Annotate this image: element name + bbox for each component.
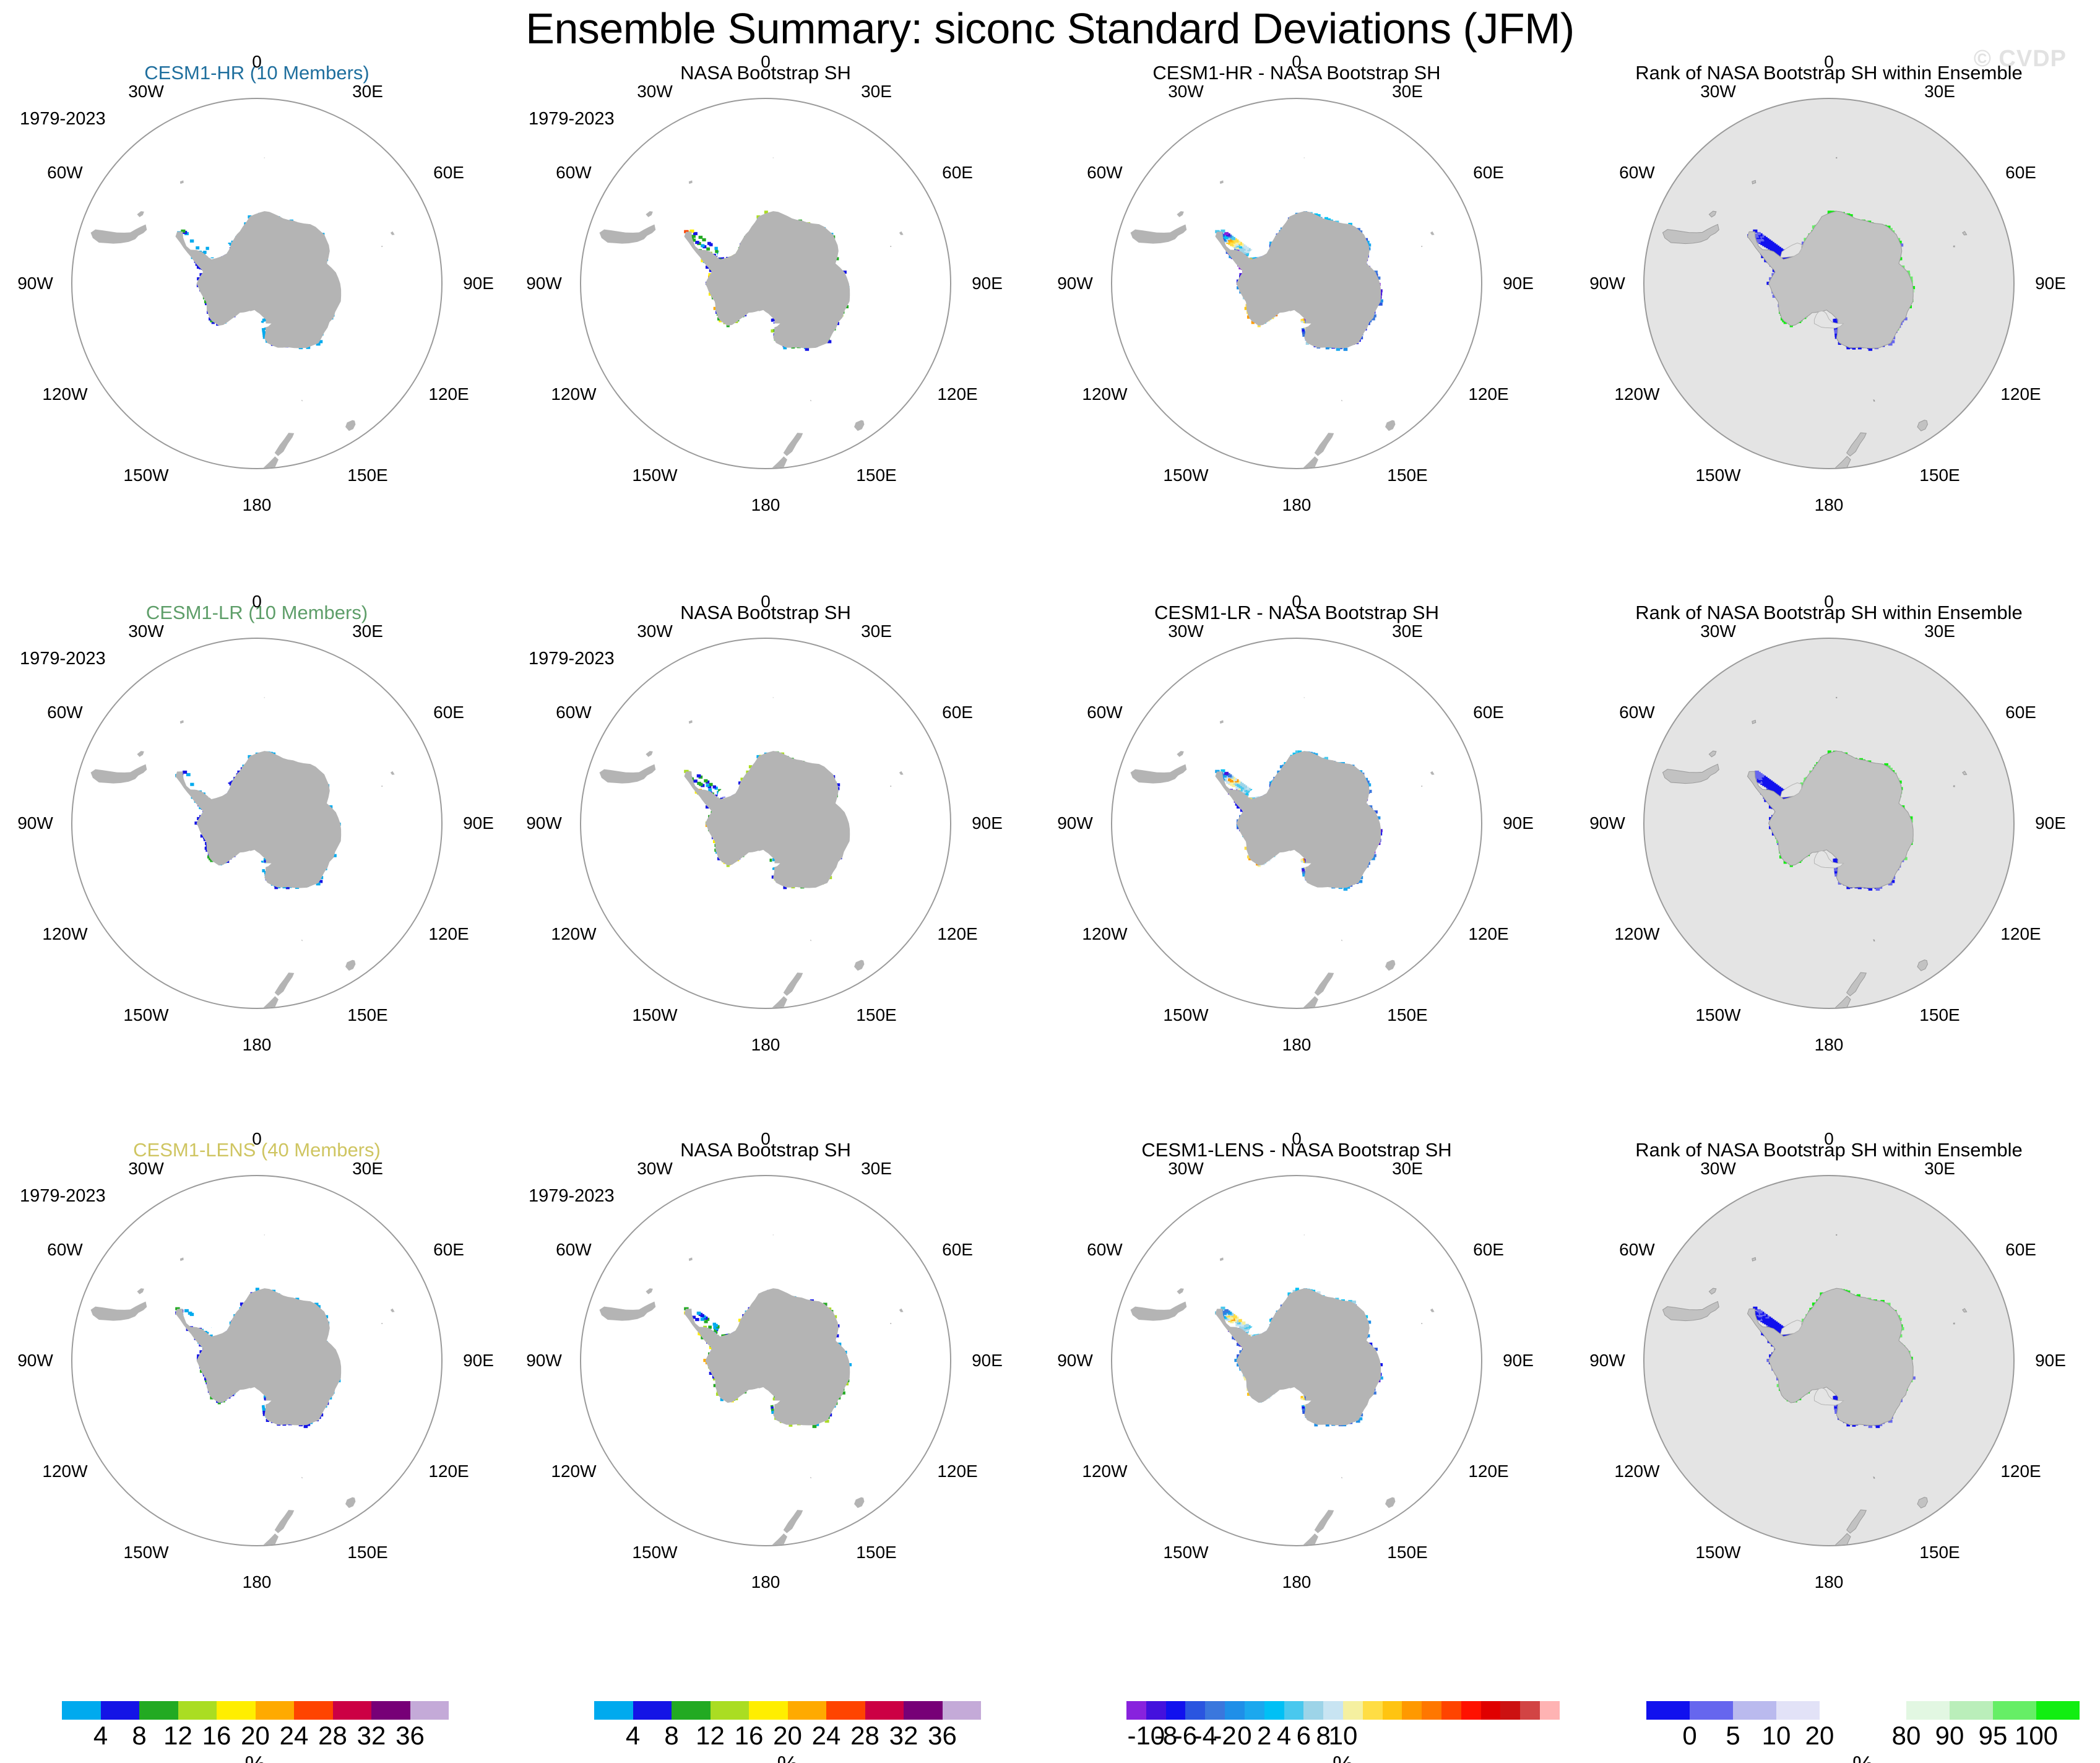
lon-label-150W: 150W: [123, 1543, 168, 1562]
panel-hr-model: CESM1-HR (10 Members)1979-2023030E60E90E…: [0, 62, 514, 600]
lon-label-150E: 150E: [1387, 466, 1427, 485]
land-heard: [381, 246, 382, 247]
map-lens-rank: 030E60E90E120E150E180150W120W90W60W30W: [1612, 1169, 2046, 1602]
map-lr-diff: 030E60E90E120E150E180150W120W90W60W30W: [1080, 631, 1513, 1065]
map-graphics: [1112, 639, 1481, 1008]
colorbar-tick-label: 5: [1726, 1721, 1740, 1751]
lon-label-30E: 30E: [1924, 622, 1955, 641]
colorbar-swatch: [1993, 1701, 2036, 1720]
land-heard: [381, 1323, 382, 1324]
colorbar-tick-label: 100: [2015, 1721, 2058, 1751]
lon-label-120W: 120W: [1614, 924, 1659, 944]
lon-label-30E: 30E: [1924, 82, 1955, 102]
land-tasmania: [854, 1497, 864, 1508]
lon-label-180: 180: [1282, 1035, 1311, 1055]
land-tasmania: [1385, 960, 1395, 971]
land-bouvet: [264, 1234, 265, 1235]
lon-label-60E: 60E: [2005, 703, 2036, 722]
colorbar-swatch: [711, 1701, 750, 1720]
land-kerguelen: [1963, 232, 1967, 235]
land-south-georgia: [689, 180, 693, 184]
colorbar-tick-label: 10: [1329, 1721, 1358, 1751]
land-south-america: [600, 224, 656, 243]
map-hr-rank: 030E60E90E120E150E180150W120W90W60W30W: [1612, 92, 2046, 525]
colorbar-tick-label: 0: [1237, 1721, 1251, 1751]
map-graphics: [1644, 1176, 2013, 1545]
land-tasmania: [1917, 420, 1927, 431]
map-disc: [1111, 1175, 1482, 1546]
land-heard: [1421, 1323, 1422, 1324]
lon-label-120W: 120W: [551, 924, 596, 944]
colorbar-tick-label: 80: [1892, 1721, 1921, 1751]
land-heard: [1953, 1323, 1955, 1324]
lon-label-90W: 90W: [526, 813, 562, 833]
colorbar-swatch: [1402, 1701, 1422, 1720]
land-south-america: [1663, 1301, 1719, 1320]
colorbar-swatch: [1733, 1701, 1776, 1720]
lon-label-90E: 90E: [1503, 274, 1534, 293]
lon-label-30W: 30W: [637, 1159, 673, 1179]
lon-label-120E: 120E: [937, 1462, 977, 1481]
lon-label-90W: 90W: [1589, 1351, 1625, 1371]
colorbar-tick-label: 8: [664, 1721, 678, 1751]
lon-label-150E: 150E: [347, 466, 387, 485]
lon-label-90E: 90E: [972, 274, 1003, 293]
land-south-america: [91, 764, 147, 783]
colorbar-swatch: [333, 1701, 372, 1720]
lon-label-30W: 30W: [128, 622, 164, 641]
colorbar-ticks: -10-8-6-4-20246810: [1126, 1721, 1560, 1749]
land-tasmania: [854, 960, 864, 971]
land-bouvet: [1304, 157, 1305, 158]
land-new-zealand-south: [1315, 433, 1334, 456]
land-heard: [381, 786, 382, 787]
colorbar-swatch: [1225, 1701, 1245, 1720]
colorbar-swatch: [1126, 1701, 1146, 1720]
land-new-zealand-south: [784, 1510, 803, 1533]
land-tasmania: [345, 420, 355, 431]
map-disc: [71, 1175, 443, 1546]
land-new-zealand-south: [784, 433, 803, 456]
lon-label-0: 0: [761, 1129, 771, 1149]
lon-label-60E: 60E: [942, 703, 973, 722]
lon-label-60E: 60E: [1473, 1240, 1504, 1260]
panel-lens-model: CESM1-LENS (40 Members)1979-2023030E60E9…: [0, 1139, 514, 1678]
colorbar-swatch: [1323, 1701, 1343, 1720]
land-kerguelen: [1430, 232, 1435, 235]
land-new-zealand-north: [1303, 1533, 1318, 1545]
map-disc: [1643, 638, 2015, 1009]
lon-label-150W: 150W: [632, 466, 677, 485]
lon-label-60E: 60E: [1473, 163, 1504, 183]
colorbar-cbar-diff: -10-8-6-4-20246810%: [1126, 1701, 1560, 1763]
colorbar-swatch: [1383, 1701, 1402, 1720]
land-macquarie: [1873, 400, 1875, 401]
lon-label-150W: 150W: [1695, 1005, 1740, 1025]
map-graphics: [581, 99, 950, 468]
colorbar-swatch: [1166, 1701, 1186, 1720]
land-tasmania: [1385, 420, 1395, 431]
figure-root: Ensemble Summary: siconc Standard Deviat…: [0, 0, 2100, 1763]
map-disc: [1643, 1175, 2015, 1546]
map-lens-model: 030E60E90E120E150E180150W120W90W60W30W: [40, 1169, 473, 1602]
panel-hr-rank: Rank of NASA Bootstrap SH within Ensembl…: [1572, 62, 2086, 600]
lon-label-60W: 60W: [1619, 163, 1655, 183]
colorbar-ticks: 051020809095100: [1646, 1721, 2080, 1749]
lon-label-30E: 30E: [352, 622, 383, 641]
lon-label-120E: 120E: [1468, 1462, 1508, 1481]
lon-label-30W: 30W: [1700, 1159, 1736, 1179]
lon-label-90E: 90E: [463, 1351, 494, 1371]
map-disc: [1111, 638, 1482, 1009]
land-bouvet: [1836, 157, 1837, 158]
colorbar-swatch: [62, 1701, 101, 1720]
colorbar-tick-label: 24: [812, 1721, 841, 1751]
land-south-georgia: [1220, 180, 1224, 184]
land-kerguelen: [899, 232, 904, 235]
lon-label-150E: 150E: [347, 1005, 387, 1025]
lon-label-0: 0: [1824, 52, 1834, 72]
colorbar-tick-label: 32: [889, 1721, 918, 1751]
land-new-zealand-north: [1303, 996, 1318, 1008]
colorbar-tick-label: 36: [928, 1721, 957, 1751]
map-hr-model: 030E60E90E120E150E180150W120W90W60W30W: [40, 92, 473, 525]
colorbar-strip: [594, 1701, 981, 1720]
map-hr-diff: 030E60E90E120E150E180150W120W90W60W30W: [1080, 92, 1513, 525]
land-new-zealand-north: [772, 996, 787, 1008]
lon-label-90E: 90E: [2035, 274, 2066, 293]
lon-label-180: 180: [243, 1572, 272, 1592]
land-new-zealand-north: [1835, 456, 1851, 468]
lon-label-60W: 60W: [47, 163, 83, 183]
lon-label-60W: 60W: [556, 1240, 592, 1260]
map-lens-obs: 030E60E90E120E150E180150W120W90W60W30W: [549, 1169, 982, 1602]
colorbar-unit-label: %: [594, 1752, 981, 1763]
map-graphics: [72, 639, 441, 1008]
lon-label-120E: 120E: [937, 924, 977, 944]
panel-lr-diff: CESM1-LR - NASA Bootstrap SH030E60E90E12…: [1040, 602, 1553, 1140]
lon-label-30W: 30W: [128, 1159, 164, 1179]
map-graphics: [1112, 1176, 1481, 1545]
map-graphics: [1112, 99, 1481, 468]
colorbar-swatch: [1146, 1701, 1166, 1720]
lon-label-150W: 150W: [1695, 1543, 1740, 1562]
lon-label-0: 0: [252, 52, 262, 72]
lon-label-90W: 90W: [17, 274, 53, 293]
lon-label-150W: 150W: [1163, 1005, 1208, 1025]
land-south-georgia: [689, 720, 693, 724]
land-bouvet: [773, 697, 774, 698]
colorbar-swatch: [371, 1701, 410, 1720]
land-macquarie: [1873, 940, 1875, 941]
panel-lens-obs: NASA Bootstrap SH1979-2023030E60E90E120E…: [509, 1139, 1022, 1678]
land-macquarie: [810, 400, 811, 401]
colorbar-cbar-sd-obs: 4812162024283236%: [594, 1701, 981, 1763]
lon-label-120E: 120E: [428, 924, 469, 944]
land-macquarie: [301, 1477, 303, 1478]
colorbar-swatch: [1245, 1701, 1264, 1720]
lon-label-90W: 90W: [17, 813, 53, 833]
lon-label-30E: 30E: [861, 622, 892, 641]
land-new-zealand-south: [1847, 1510, 1867, 1533]
lon-label-90E: 90E: [463, 813, 494, 833]
colorbar-tick-label: 16: [202, 1721, 231, 1751]
land-south-america: [91, 224, 147, 243]
lon-label-120E: 120E: [2000, 384, 2041, 404]
colorbar-swatch: [865, 1701, 904, 1720]
lon-label-60E: 60E: [2005, 163, 2036, 183]
colorbar-tick-label: 4: [93, 1721, 108, 1751]
panel-lr-rank: Rank of NASA Bootstrap SH within Ensembl…: [1572, 602, 2086, 1140]
lon-label-150W: 150W: [632, 1005, 677, 1025]
land-macquarie: [1341, 940, 1342, 941]
land-new-zealand-south: [275, 1510, 295, 1533]
lon-label-60W: 60W: [47, 1240, 83, 1260]
land-kerguelen: [899, 1309, 904, 1312]
lon-label-120E: 120E: [2000, 1462, 2041, 1481]
lon-label-90W: 90W: [1589, 813, 1625, 833]
lon-label-180: 180: [1282, 495, 1311, 515]
land-south-america: [600, 764, 656, 783]
colorbar-tick-label: 8: [132, 1721, 146, 1751]
land-kerguelen: [391, 232, 395, 235]
lon-label-150E: 150E: [856, 1543, 896, 1562]
colorbar-swatch: [294, 1701, 333, 1720]
lon-label-150E: 150E: [856, 466, 896, 485]
lon-label-60W: 60W: [47, 703, 83, 722]
land-macquarie: [1341, 1477, 1342, 1478]
map-disc: [71, 638, 443, 1009]
colorbar-swatch: [1776, 1701, 1820, 1720]
lon-label-150E: 150E: [1919, 466, 1960, 485]
land-south-america: [91, 1301, 147, 1320]
land-kerguelen: [391, 1309, 395, 1312]
lon-label-120E: 120E: [1468, 924, 1508, 944]
colorbar-swatch: [1303, 1701, 1323, 1720]
colorbar-ticks: 4812162024283236: [62, 1721, 449, 1749]
land-new-zealand-south: [784, 972, 803, 996]
land-south-america: [1131, 1301, 1187, 1320]
lon-label-60E: 60E: [433, 163, 464, 183]
lon-label-60E: 60E: [433, 1240, 464, 1260]
lon-label-120E: 120E: [2000, 924, 2041, 944]
lon-label-30E: 30E: [352, 1159, 383, 1179]
lon-label-180: 180: [751, 495, 780, 515]
lon-label-0: 0: [1292, 592, 1302, 612]
lon-label-60W: 60W: [556, 163, 592, 183]
colorbar-swatch: [1363, 1701, 1383, 1720]
colorbar-tick-label: 4: [626, 1721, 640, 1751]
colorbar-swatch: [1646, 1701, 1690, 1720]
lon-label-30E: 30E: [861, 82, 892, 102]
colorbar-tick-label: 0: [1682, 1721, 1696, 1751]
lon-label-150W: 150W: [1163, 1543, 1208, 1562]
land-heard: [890, 786, 891, 787]
colorbar-swatch: [217, 1701, 256, 1720]
map-graphics: [1644, 639, 2013, 1008]
colorbar-swatch: [1461, 1701, 1481, 1720]
map-lens-diff: 030E60E90E120E150E180150W120W90W60W30W: [1080, 1169, 1513, 1602]
colorbar-tick-label: 20: [241, 1721, 270, 1751]
land-bouvet: [1836, 697, 1837, 698]
colorbar-swatch: [1906, 1701, 1950, 1720]
colorbar-tick-label: 4: [1277, 1721, 1291, 1751]
map-graphics: [581, 639, 950, 1008]
lon-label-90E: 90E: [972, 813, 1003, 833]
colorbar-swatch: [256, 1701, 295, 1720]
land-kerguelen: [1963, 771, 1967, 775]
land-macquarie: [1873, 1477, 1875, 1478]
map-disc: [1111, 98, 1482, 469]
lon-label-30W: 30W: [637, 622, 673, 641]
lon-label-0: 0: [1292, 1129, 1302, 1149]
land-bouvet: [773, 1234, 774, 1235]
lon-label-120W: 120W: [1082, 1462, 1127, 1481]
lon-label-30W: 30W: [1168, 622, 1204, 641]
lon-label-120W: 120W: [42, 384, 87, 404]
land-macquarie: [810, 1477, 811, 1478]
map-hr-obs: 030E60E90E120E150E180150W120W90W60W30W: [549, 92, 982, 525]
lon-label-0: 0: [761, 52, 771, 72]
lon-label-60W: 60W: [1087, 163, 1123, 183]
colorbar-tick-label: 20: [773, 1721, 802, 1751]
land-new-zealand-north: [1835, 996, 1851, 1008]
land-south-america: [1663, 224, 1719, 243]
land-tasmania: [1917, 1497, 1927, 1508]
lon-label-120E: 120E: [937, 384, 977, 404]
map-lr-obs: 030E60E90E120E150E180150W120W90W60W30W: [549, 631, 982, 1065]
land-bouvet: [1304, 1234, 1305, 1235]
lon-label-150W: 150W: [1695, 466, 1740, 485]
land-tasmania: [1917, 960, 1927, 971]
lon-label-30W: 30W: [1700, 82, 1736, 102]
colorbar-tick-label: 90: [1935, 1721, 1964, 1751]
lon-label-120W: 120W: [551, 1462, 596, 1481]
lon-label-60E: 60E: [2005, 1240, 2036, 1260]
lon-label-0: 0: [252, 592, 262, 612]
lon-label-150W: 150W: [123, 1005, 168, 1025]
lon-label-120E: 120E: [428, 384, 469, 404]
land-bouvet: [1836, 1234, 1837, 1235]
land-south-america: [1131, 224, 1187, 243]
lon-label-60W: 60W: [556, 703, 592, 722]
colorbar-swatch: [178, 1701, 217, 1720]
lon-label-0: 0: [761, 592, 771, 612]
panel-lens-diff: CESM1-LENS - NASA Bootstrap SH030E60E90E…: [1040, 1139, 1553, 1678]
lon-label-150E: 150E: [347, 1543, 387, 1562]
map-graphics: [1644, 99, 2013, 468]
land-new-zealand-south: [275, 433, 295, 456]
colorbar-tick-label: -2: [1213, 1721, 1236, 1751]
colorbar-swatch: [1950, 1701, 1993, 1720]
land-heard: [890, 246, 891, 247]
lon-label-30E: 30E: [1924, 1159, 1955, 1179]
land-macquarie: [1341, 400, 1342, 401]
colorbar-tick-label: 28: [318, 1721, 347, 1751]
land-falklands: [1177, 1288, 1183, 1294]
lon-label-180: 180: [243, 495, 272, 515]
colorbar-swatch: [943, 1701, 982, 1720]
lon-label-180: 180: [751, 1572, 780, 1592]
lon-label-60E: 60E: [942, 1240, 973, 1260]
panel-lr-obs: NASA Bootstrap SH1979-2023030E60E90E120E…: [509, 602, 1022, 1140]
land-new-zealand-north: [1303, 456, 1318, 468]
land-macquarie: [301, 940, 303, 941]
colorbar-swatch: [1820, 1701, 1863, 1720]
lon-label-180: 180: [1815, 495, 1844, 515]
land-south-georgia: [1752, 180, 1756, 184]
colorbar-swatch: [1540, 1701, 1560, 1720]
lon-label-120W: 120W: [551, 384, 596, 404]
lon-label-30W: 30W: [1700, 622, 1736, 641]
colorbar-swatch: [672, 1701, 711, 1720]
colorbar-swatch: [788, 1701, 827, 1720]
land-tasmania: [345, 1497, 355, 1508]
map-lr-model: 030E60E90E120E150E180150W120W90W60W30W: [40, 631, 473, 1065]
map-lr-rank: 030E60E90E120E150E180150W120W90W60W30W: [1612, 631, 2046, 1065]
colorbar-swatch: [1520, 1701, 1540, 1720]
land-falklands: [137, 1288, 144, 1294]
map-disc: [580, 98, 951, 469]
lon-label-30W: 30W: [1168, 1159, 1204, 1179]
land-tasmania: [1385, 1497, 1395, 1508]
lon-label-90W: 90W: [1057, 1351, 1093, 1371]
land-kerguelen: [899, 771, 904, 775]
colorbar-swatch: [1284, 1701, 1304, 1720]
lon-label-120E: 120E: [1468, 384, 1508, 404]
land-south-america: [1663, 764, 1719, 783]
land-falklands: [1709, 751, 1716, 757]
colorbar-tick-label: 12: [696, 1721, 725, 1751]
land-falklands: [646, 1288, 652, 1294]
lon-label-90E: 90E: [463, 274, 494, 293]
lon-label-60W: 60W: [1087, 703, 1123, 722]
lon-label-0: 0: [252, 1129, 262, 1149]
land-heard: [1953, 246, 1955, 247]
lon-label-150W: 150W: [1163, 466, 1208, 485]
colorbar-unit-label: %: [1646, 1752, 2080, 1763]
land-falklands: [137, 211, 144, 217]
land-south-georgia: [1220, 1257, 1224, 1261]
colorbar-tick-label: 32: [357, 1721, 386, 1751]
land-falklands: [1709, 211, 1716, 217]
land-heard: [1421, 246, 1422, 247]
colorbar-tick-label: 20: [1805, 1721, 1834, 1751]
colorbar-cbar-rank: 051020809095100%: [1646, 1701, 2080, 1763]
land-tasmania: [345, 960, 355, 971]
land-south-georgia: [1752, 1257, 1756, 1261]
lon-label-90W: 90W: [1057, 274, 1093, 293]
land-new-zealand-north: [263, 996, 279, 1008]
land-heard: [1421, 786, 1422, 787]
map-graphics: [581, 1176, 950, 1545]
lon-label-90E: 90E: [1503, 813, 1534, 833]
lon-label-30E: 30E: [861, 1159, 892, 1179]
land-south-georgia: [689, 1257, 693, 1261]
colorbar-swatch: [904, 1701, 943, 1720]
lon-label-120W: 120W: [1614, 1462, 1659, 1481]
colorbar-tick-label: 6: [1297, 1721, 1311, 1751]
lon-label-30E: 30E: [1392, 82, 1423, 102]
panel-hr-diff: CESM1-HR - NASA Bootstrap SH030E60E90E12…: [1040, 62, 1553, 600]
lon-label-150W: 150W: [632, 1543, 677, 1562]
land-new-zealand-north: [263, 1533, 279, 1545]
lon-label-120E: 120E: [428, 1462, 469, 1481]
land-south-georgia: [180, 720, 184, 724]
colorbar-cbar-sd-left: 4812162024283236%: [62, 1701, 449, 1763]
colorbar-strip: [62, 1701, 449, 1720]
land-kerguelen: [1430, 771, 1435, 775]
